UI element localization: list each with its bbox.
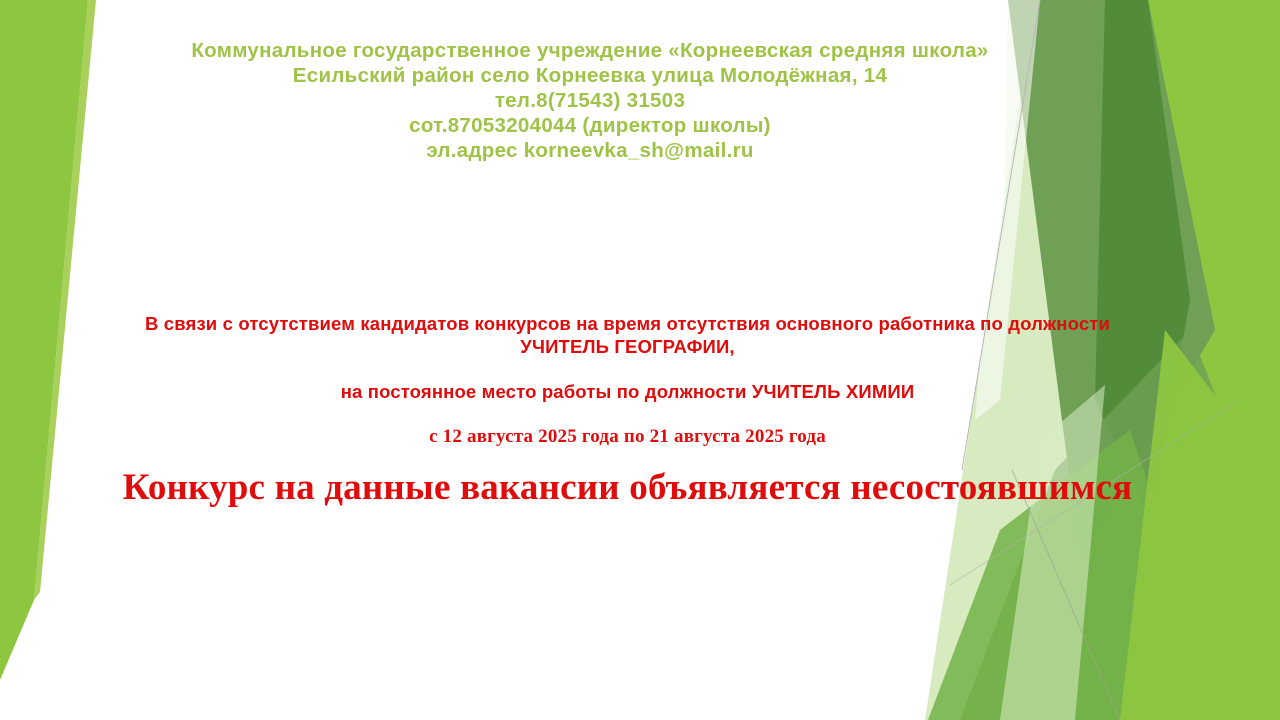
vacancy-geography-line-1: В связи с отсутствием кандидатов конкурс… (0, 312, 1255, 335)
competition-date-range: с 12 августа 2025 года по 21 августа 202… (0, 426, 1255, 448)
school-address-line: Есильский район село Корнеевка улица Мол… (0, 63, 1180, 88)
presentation-slide: Коммунальное государственное учреждение … (0, 0, 1280, 720)
vacancy-geography-line-2: УЧИТЕЛЬ ГЕОГРАФИИ, (0, 335, 1255, 358)
school-name-line: Коммунальное государственное учреждение … (0, 38, 1180, 63)
announcement-body: В связи с отсутствием кандидатов конкурс… (0, 312, 1255, 509)
school-header: Коммунальное государственное учреждение … (0, 38, 1180, 163)
school-mobile-line: сот.87053204044 (директор школы) (0, 113, 1180, 138)
school-phone-line: тел.8(71543) 31503 (0, 88, 1180, 113)
school-email-line: эл.адрес korneevka_sh@mail.ru (0, 138, 1180, 163)
vacancy-paragraph-chemistry: на постоянное место работы по должности … (0, 380, 1255, 403)
competition-result-headline: Конкурс на данные вакансии объявляется н… (0, 466, 1255, 509)
slide-content: Коммунальное государственное учреждение … (0, 0, 1280, 720)
vacancy-paragraph-geography: В связи с отсутствием кандидатов конкурс… (0, 312, 1255, 358)
